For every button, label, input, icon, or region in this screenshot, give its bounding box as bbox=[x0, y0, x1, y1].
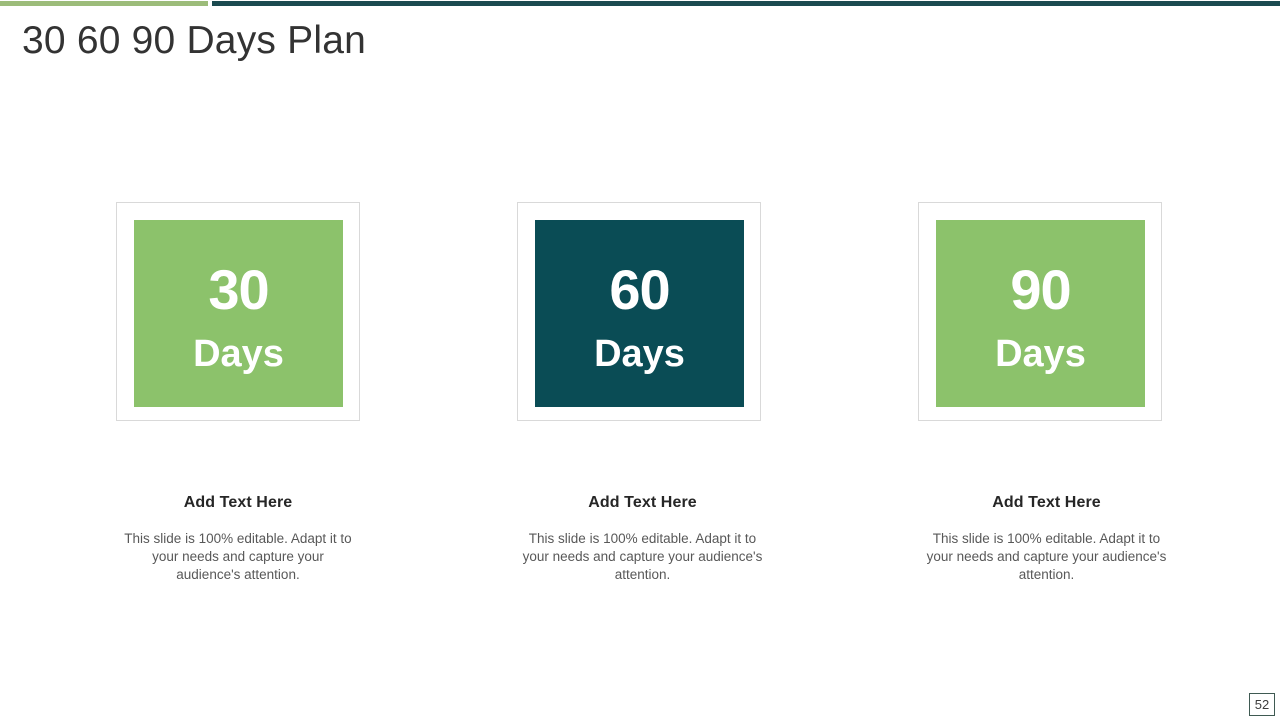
caption-body-60: This slide is 100% editable. Adapt it to… bbox=[510, 530, 775, 583]
days-card-60[interactable]: 60 Days bbox=[517, 202, 761, 421]
days-card-90[interactable]: 90 Days bbox=[918, 202, 1162, 421]
caption-title-90: Add Text Here bbox=[913, 493, 1180, 512]
days-card-30-unit: Days bbox=[193, 335, 284, 373]
days-card-90-tile: 90 Days bbox=[936, 220, 1145, 407]
page-number-badge: 52 bbox=[1249, 693, 1275, 716]
topbar-accent-teal bbox=[212, 1, 1280, 6]
topbar-accent-green bbox=[0, 1, 208, 6]
page-title: 30 60 90 Days Plan bbox=[22, 18, 366, 64]
days-card-90-number: 90 bbox=[1010, 262, 1070, 318]
caption-body-30: This slide is 100% editable. Adapt it to… bbox=[108, 530, 368, 583]
caption-block-90: Add Text Here This slide is 100% editabl… bbox=[913, 493, 1180, 584]
days-card-60-tile: 60 Days bbox=[535, 220, 744, 407]
days-card-30-tile: 30 Days bbox=[134, 220, 343, 407]
caption-block-30: Add Text Here This slide is 100% editabl… bbox=[108, 493, 368, 584]
caption-title-60: Add Text Here bbox=[510, 493, 775, 512]
days-card-60-unit: Days bbox=[594, 335, 685, 373]
caption-title-30: Add Text Here bbox=[108, 493, 368, 512]
caption-body-90: This slide is 100% editable. Adapt it to… bbox=[913, 530, 1180, 583]
days-card-30[interactable]: 30 Days bbox=[116, 202, 360, 421]
days-card-90-unit: Days bbox=[995, 335, 1086, 373]
days-card-30-number: 30 bbox=[208, 262, 268, 318]
days-cards-row: 30 Days 60 Days 90 Days bbox=[0, 202, 1280, 422]
days-card-60-number: 60 bbox=[609, 262, 669, 318]
caption-block-60: Add Text Here This slide is 100% editabl… bbox=[510, 493, 775, 584]
